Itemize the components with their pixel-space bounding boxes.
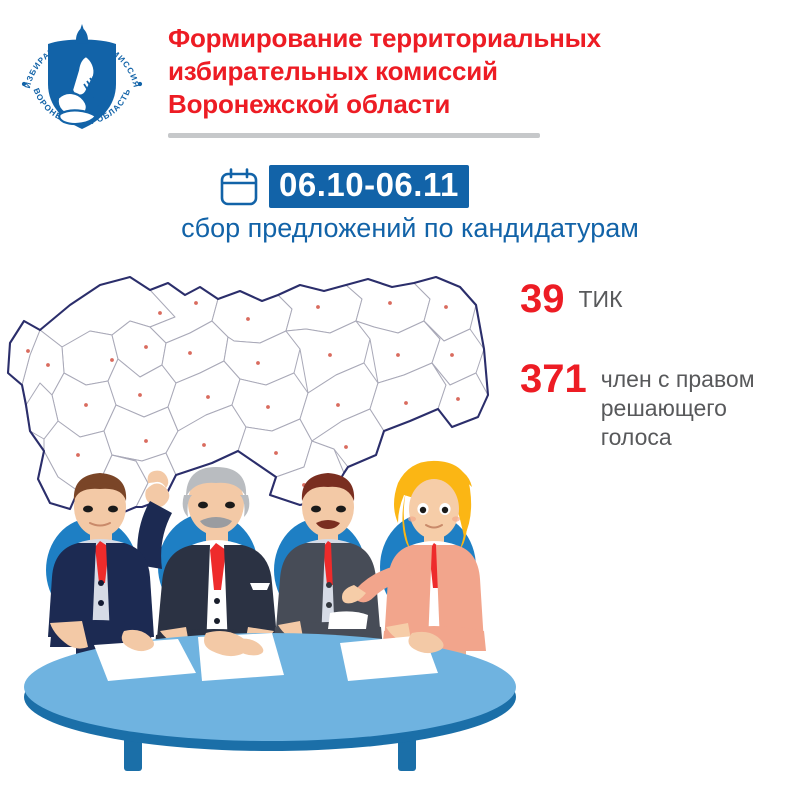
header: ИЗБИРАТЕЛЬНАЯ КОМИССИЯ ВОРОНЕЖСКАЯ ОБЛАС… (0, 0, 800, 150)
illustration-scene (0, 255, 800, 800)
date-range-badge: 06.10-06.11 (269, 165, 469, 208)
logo-bell-base (75, 40, 89, 43)
date-row: 06.10-06.11 (0, 162, 800, 210)
person-elder-man (154, 467, 280, 657)
logo-bell-tower (76, 24, 88, 40)
logo-dot-left (22, 82, 26, 86)
date-subtitle: сбор предложений по кандидатурам (0, 212, 800, 244)
commission-logo: ИЗБИРАТЕЛЬНАЯ КОМИССИЯ ВОРОНЕЖСКАЯ ОБЛАС… (12, 14, 152, 149)
infographic-page: ИЗБИРАТЕЛЬНАЯ КОМИССИЯ ВОРОНЕЖСКАЯ ОБЛАС… (0, 0, 800, 800)
person-man-grey-suit (273, 473, 383, 649)
page-title: Формирование территориальных избирательн… (168, 22, 688, 121)
logo-dot-right (138, 82, 142, 86)
title-line-3: Воронежской области (168, 88, 688, 121)
calendar-icon (218, 167, 260, 207)
title-line-2: избирательных комиссий (168, 55, 688, 88)
committee-meeting-illustration (20, 435, 520, 800)
title-line-1: Формирование территориальных (168, 22, 688, 55)
title-divider (168, 133, 540, 138)
person-young-man-raising-hand (48, 471, 172, 649)
